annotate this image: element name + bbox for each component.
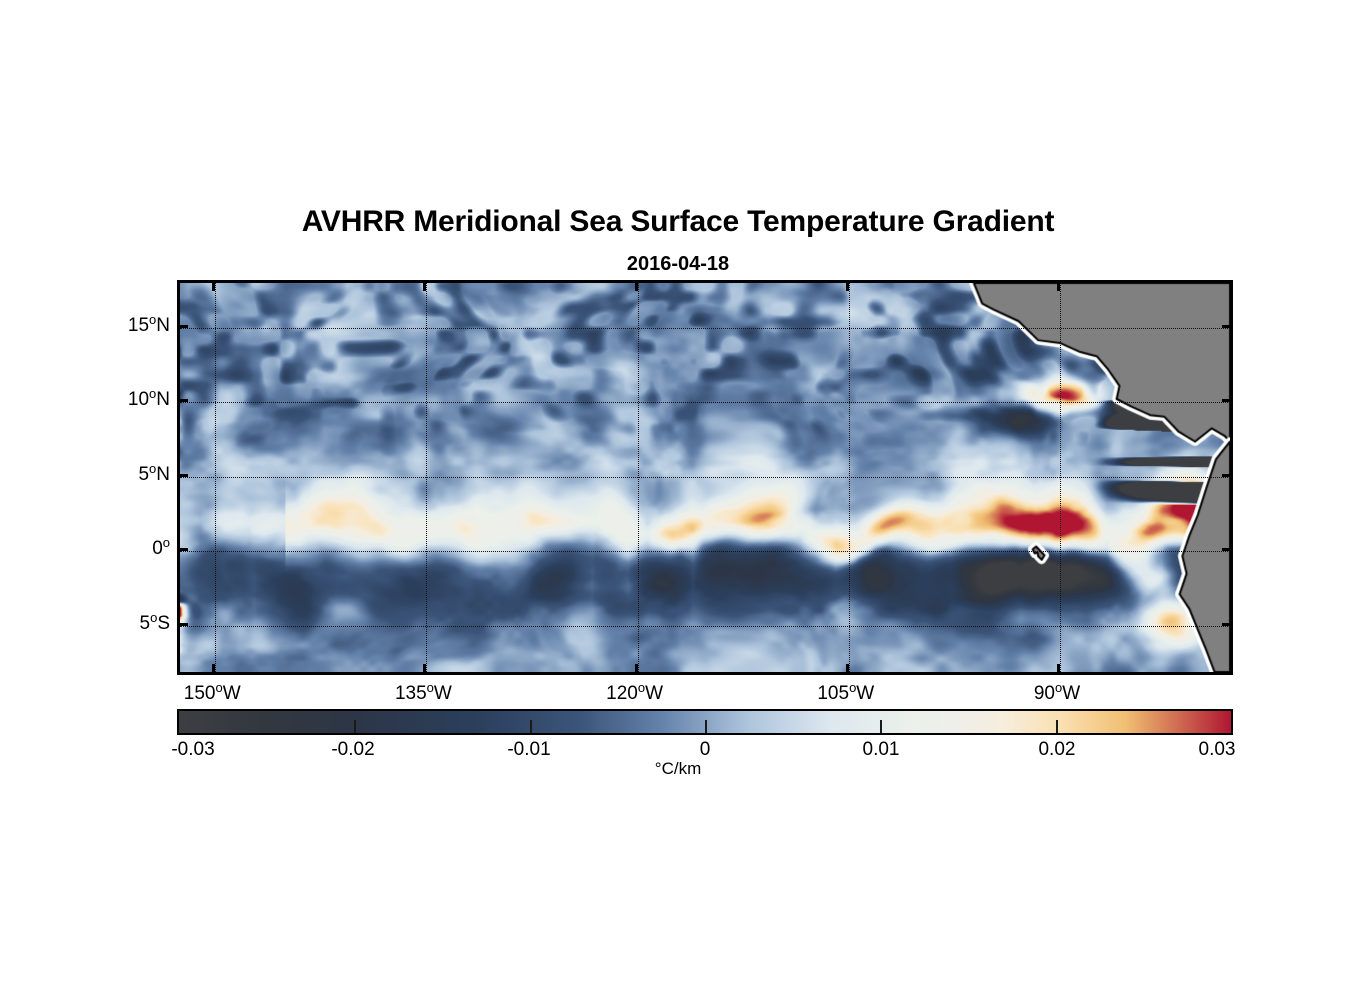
colorbar-label-0.03: 0.03 (1199, 739, 1236, 761)
tick-top-lon-90 (1057, 280, 1060, 291)
tick-bottom-lon-90 (1057, 664, 1060, 675)
tick-right-lat-15 (1222, 325, 1233, 328)
tick-right-lat-0 (1222, 548, 1233, 551)
colorbar-unit-label: °C/km (0, 759, 1356, 779)
tick-bottom-lon-150 (212, 664, 215, 675)
colorbar-label-0.02: 0.02 (1038, 739, 1075, 761)
lon-label-90W: 90oW (1034, 680, 1080, 705)
colorbar-tick--0.01 (530, 720, 532, 733)
colorbar[interactable] (177, 709, 1233, 735)
map-axes[interactable] (177, 280, 1233, 675)
lat-label-5N: 5oN (138, 461, 170, 486)
tick-right-lat-5 (1222, 474, 1233, 477)
tick-top-lon-105 (846, 280, 849, 291)
lat-label-15N: 15oN (128, 312, 170, 337)
tick-left-lat-10 (177, 399, 188, 402)
tick-top-lon-120 (635, 280, 638, 291)
tick-bottom-lon-135 (423, 664, 426, 675)
colorbar-label--0.02: -0.02 (331, 739, 374, 761)
tick-bottom-lon-105 (846, 664, 849, 675)
tick-left-lat-0 (177, 548, 188, 551)
lat-label-0eq: 0o (152, 535, 170, 560)
colorbar-tick-0.01 (880, 720, 882, 733)
tick-left-lat-15 (177, 325, 188, 328)
tick-top-lon-150 (212, 280, 215, 291)
figure-canvas: AVHRR Meridional Sea Surface Temperature… (0, 0, 1356, 1000)
tick-top-lon-135 (423, 280, 426, 291)
figure-subtitle: 2016-04-18 (0, 253, 1356, 276)
colorbar-label--0.01: -0.01 (507, 739, 550, 761)
lon-label-135W: 135oW (395, 680, 452, 705)
lat-label-5S: 5oS (140, 610, 171, 635)
tick-bottom-lon-120 (635, 664, 638, 675)
colorbar-label--0.03: -0.03 (171, 739, 214, 761)
colorbar-label-0.01: 0.01 (863, 739, 900, 761)
lon-label-120W: 120oW (606, 680, 663, 705)
colorbar-tick-0.02 (1056, 720, 1058, 733)
lon-label-150W: 150oW (184, 680, 241, 705)
lon-label-105W: 105oW (817, 680, 874, 705)
tick-right-lat-10 (1222, 399, 1233, 402)
colorbar-tick-0 (705, 720, 707, 733)
tick-right-lat-5 (1222, 623, 1233, 626)
tick-left-lat-5 (177, 623, 188, 626)
lat-label-10N: 10oN (128, 386, 170, 411)
sst-gradient-heatmap (180, 283, 1230, 672)
tick-left-lat-5 (177, 474, 188, 477)
figure-title: AVHRR Meridional Sea Surface Temperature… (0, 205, 1356, 239)
colorbar-label-0: 0 (700, 739, 711, 761)
colorbar-tick--0.02 (354, 720, 356, 733)
